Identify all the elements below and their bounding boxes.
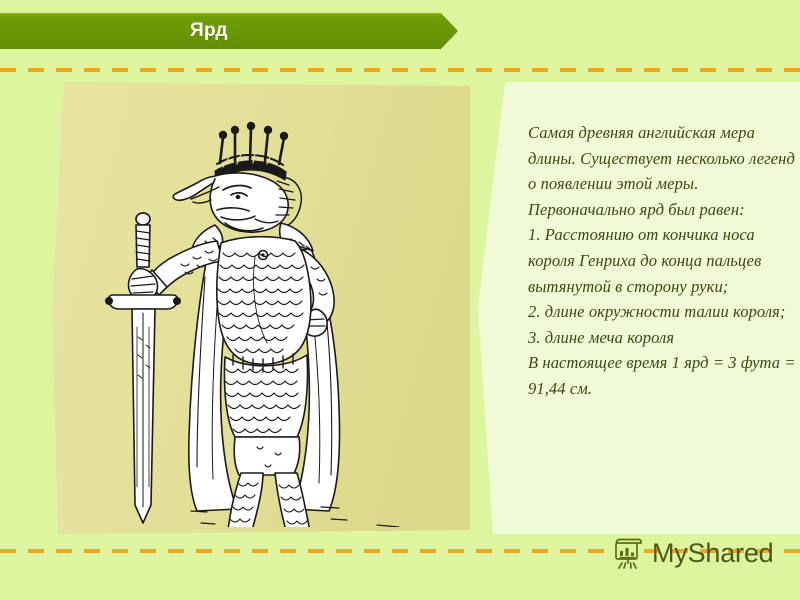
title-banner: Ярд (0, 13, 458, 49)
medieval-king-illustration (105, 107, 415, 527)
dashed-divider-top (0, 68, 800, 72)
text-panel: Самая древняя английская мера длины. Сущ… (478, 82, 800, 534)
body-text: Самая древняя английская мера длины. Сущ… (528, 120, 796, 402)
picture-panel (50, 82, 470, 534)
chainmail-torso (217, 237, 311, 364)
slide-canvas: Ярд (0, 0, 800, 600)
dashed-line (0, 68, 800, 72)
title-banner-shape (0, 13, 458, 49)
myshared-logo[interactable]: MyShared (611, 530, 773, 576)
under-tunic (234, 437, 300, 475)
crown (215, 122, 288, 180)
page-title: Ярд (190, 13, 228, 49)
myshared-wordmark: MyShared (652, 536, 773, 570)
presentation-board-icon (611, 536, 645, 570)
mail-skirt (224, 354, 307, 437)
